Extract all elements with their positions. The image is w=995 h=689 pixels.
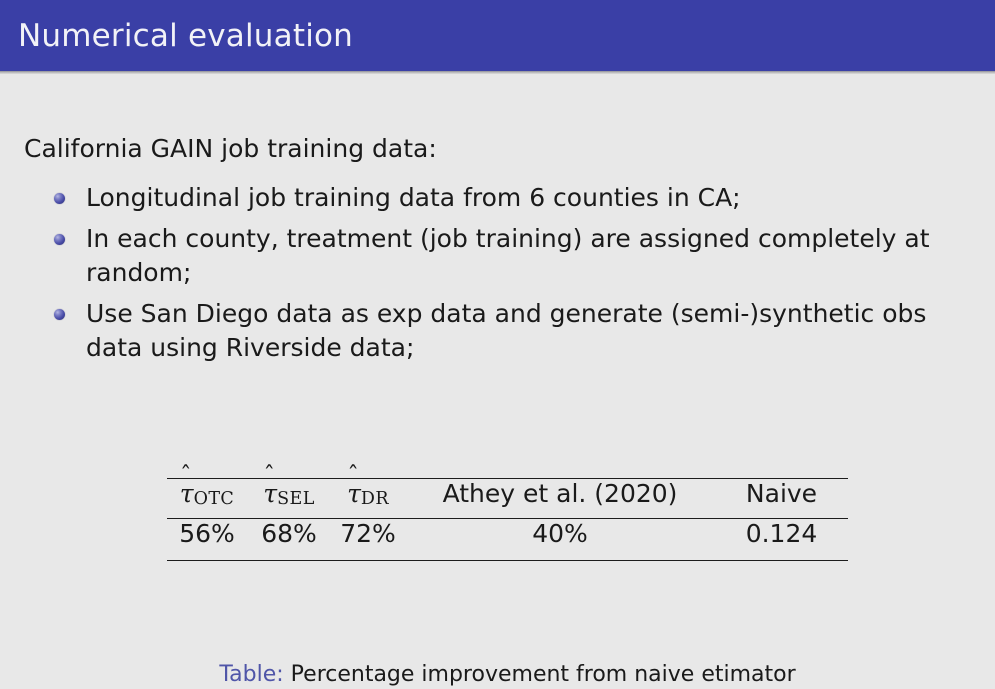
column-header-tau-sel: ˆτSEL (247, 479, 331, 519)
bullet-ball-icon (54, 234, 65, 245)
bullet-list: Longitudinal job training data from 6 co… (52, 181, 972, 372)
tau-symbol: ˆτ (347, 479, 361, 508)
table-caption-label: Table: (219, 662, 283, 687)
list-item: Use San Diego data as exp data and gener… (52, 297, 972, 365)
hat-accent-icon: ˆ (180, 465, 192, 488)
cell-tau-sel-value: 68% (247, 519, 331, 561)
table-row: 56% 68% 72% 40% 0.124 (167, 519, 848, 561)
cell-tau-dr-value: 72% (331, 519, 405, 561)
hat-accent-icon: ˆ (347, 465, 359, 488)
list-item: Longitudinal job training data from 6 co… (52, 181, 972, 215)
list-item-label: Longitudinal job training data from 6 co… (86, 181, 972, 215)
column-header-tau-dr: ˆτDR (331, 479, 405, 519)
intro-text: California GAIN job training data: (24, 133, 437, 165)
tau-subscript: SEL (277, 489, 315, 509)
page-title: Numerical evaluation (18, 16, 353, 56)
tau-symbol: ˆτ (263, 479, 277, 508)
table-header-row: ˆτOTC ˆτSEL ˆτDR Athey et al. (2020) Nai… (167, 479, 848, 519)
tau-subscript: OTC (194, 489, 235, 509)
results-table-block: ˆτOTC ˆτSEL ˆτDR Athey et al. (2020) Nai… (167, 478, 848, 561)
table-caption-text: Percentage improvement from naive etimat… (291, 662, 796, 687)
column-header-naive: Naive (715, 479, 848, 519)
results-table: ˆτOTC ˆτSEL ˆτDR Athey et al. (2020) Nai… (167, 478, 848, 561)
list-item-label: In each county, treatment (job training)… (86, 222, 972, 290)
bullet-ball-icon (54, 193, 65, 204)
cell-tau-otc-value: 56% (167, 519, 247, 561)
column-header-tau-otc: ˆτOTC (167, 479, 247, 519)
tau-symbol: ˆτ (180, 479, 194, 508)
table-bottomrule (167, 560, 848, 561)
hat-accent-icon: ˆ (264, 465, 276, 488)
cell-naive-value: 0.124 (715, 519, 848, 561)
tau-subscript: DR (361, 489, 389, 509)
cell-athey-value: 40% (405, 519, 715, 561)
bullet-ball-icon (54, 309, 65, 320)
list-item-label: Use San Diego data as exp data and gener… (86, 297, 972, 365)
column-header-athey: Athey et al. (2020) (405, 479, 715, 519)
slide-content: California GAIN job training data: Longi… (0, 71, 995, 685)
list-item: In each county, treatment (job training)… (52, 222, 972, 290)
